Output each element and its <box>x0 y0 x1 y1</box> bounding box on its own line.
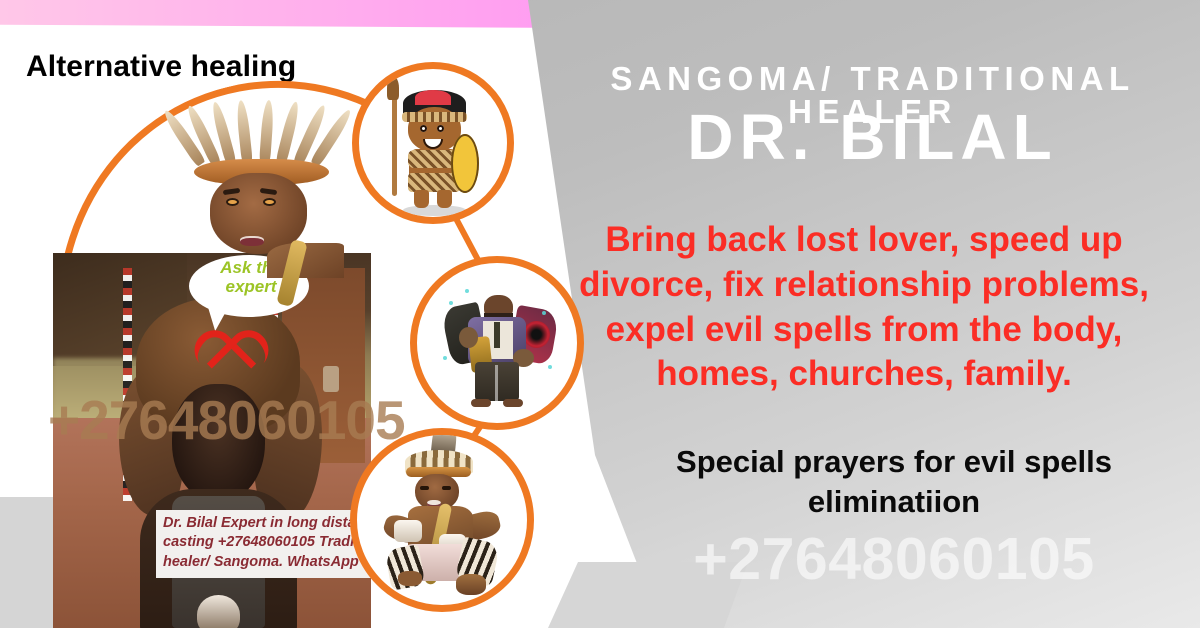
photo-caption-line-3: healer/ Sangoma. WhatsApp n <box>163 553 385 572</box>
illustration-circle-crouching-warrior <box>350 428 534 612</box>
shield-icon <box>451 134 479 193</box>
warrior-illustration <box>176 96 344 271</box>
services-text: Bring back lost lover, speed up divorce,… <box>540 218 1188 397</box>
photo-chicken <box>197 595 240 628</box>
brand-name: DR. BILAL <box>560 104 1185 171</box>
top-bar-pink <box>0 0 600 28</box>
panel-watermark-phone: +27648060105 <box>596 525 1192 593</box>
heart-icon <box>195 333 261 393</box>
poster-canvas: Alternative healing Ask the expert +2764… <box>0 0 1200 628</box>
warrior-mouth <box>240 236 264 246</box>
cartoon-zulu-warrior-icon <box>359 69 507 217</box>
warrior-eye-left <box>226 198 239 206</box>
prayers-text: Special prayers for evil spells eliminat… <box>596 442 1192 523</box>
warrior-eye-right <box>263 198 276 206</box>
crouching-warrior-icon <box>357 435 527 605</box>
page-title: Alternative healing <box>26 50 296 84</box>
photo-watermark-phone: +27648060105 <box>48 388 405 452</box>
illustration-circle-cartoon-warrior <box>352 62 514 224</box>
